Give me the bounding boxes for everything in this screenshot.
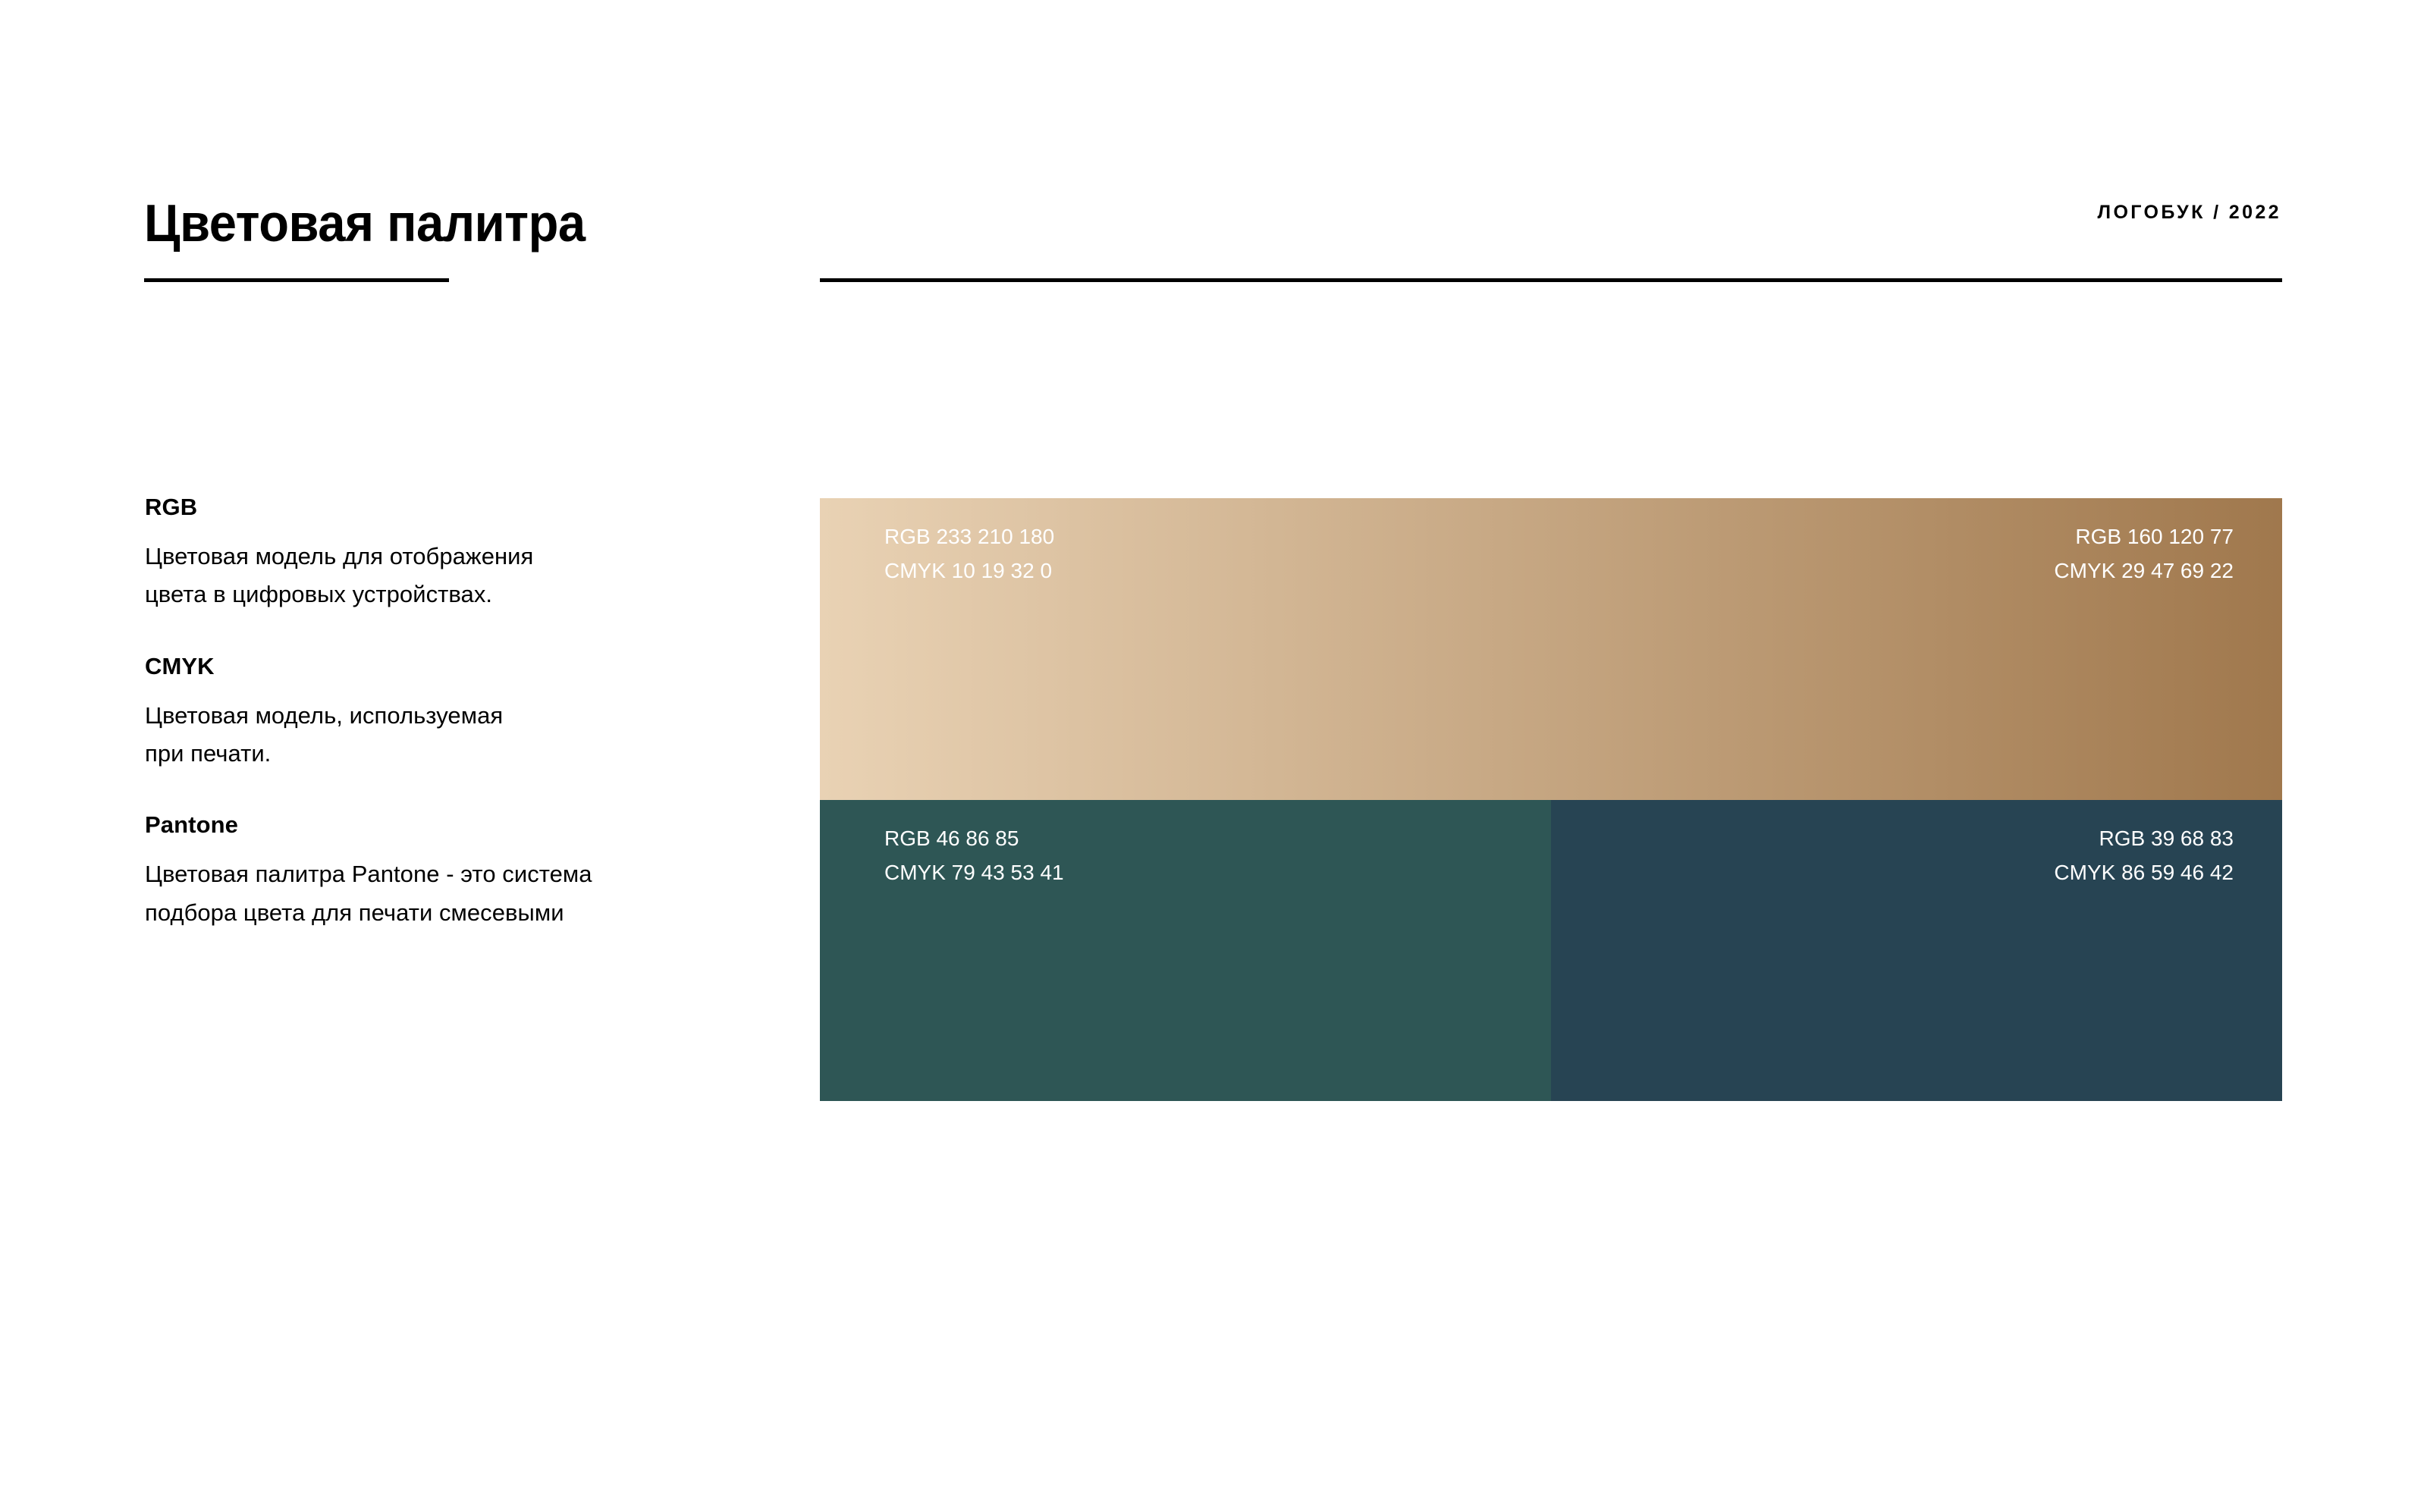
header-rule-left bbox=[144, 278, 449, 282]
page-title: Цветовая палитра bbox=[144, 196, 586, 249]
swatch-labels-sand-gradient: RGB 233 210 180 CMYK 10 19 32 0 bbox=[884, 519, 1054, 588]
swatch-rgb-value: RGB 46 86 85 bbox=[884, 821, 1064, 855]
swatch-labels-bronze: RGB 160 120 77 CMYK 29 47 69 22 bbox=[2054, 519, 2234, 588]
info-column: RGB Цветовая модель для отображения цвет… bbox=[145, 493, 767, 932]
color-swatch-sand-gradient: RGB 233 210 180 CMYK 10 19 32 0 RGB 160 … bbox=[820, 498, 2282, 800]
swatch-rgb-value: RGB 233 210 180 bbox=[884, 519, 1054, 554]
palette-grid: RGB 233 210 180 CMYK 10 19 32 0 RGB 160 … bbox=[820, 498, 2282, 1101]
swatch-cmyk-value: CMYK 86 59 46 42 bbox=[2054, 855, 2234, 889]
swatch-cmyk-value: CMYK 29 47 69 22 bbox=[2054, 554, 2234, 588]
info-heading-rgb: RGB bbox=[145, 493, 767, 521]
info-heading-cmyk: CMYK bbox=[145, 652, 767, 680]
header-rule-right bbox=[820, 278, 2282, 282]
info-body-pantone: Цветовая палитра Pantone - это система п… bbox=[145, 855, 767, 931]
swatch-labels-deep-blue: RGB 39 68 83 CMYK 86 59 46 42 bbox=[2054, 821, 2234, 890]
info-block-rgb: RGB Цветовая модель для отображения цвет… bbox=[145, 493, 767, 614]
color-swatch-deep-blue: RGB 39 68 83 CMYK 86 59 46 42 bbox=[1551, 800, 2282, 1101]
swatch-rgb-value: RGB 160 120 77 bbox=[2054, 519, 2234, 554]
info-block-pantone: Pantone Цветовая палитра Pantone - это с… bbox=[145, 811, 767, 932]
info-block-cmyk: CMYK Цветовая модель, используемая при п… bbox=[145, 652, 767, 773]
swatch-labels-deep-green: RGB 46 86 85 CMYK 79 43 53 41 bbox=[884, 821, 1064, 890]
info-body-rgb: Цветовая модель для отображения цвета в … bbox=[145, 538, 767, 613]
info-body-cmyk: Цветовая модель, используемая при печати… bbox=[145, 697, 767, 773]
info-heading-pantone: Pantone bbox=[145, 811, 767, 839]
color-swatch-deep-green: RGB 46 86 85 CMYK 79 43 53 41 bbox=[820, 800, 1551, 1101]
header-meta-label: ЛОГОБУК / 2022 bbox=[2098, 203, 2282, 222]
swatch-cmyk-value: CMYK 10 19 32 0 bbox=[884, 554, 1054, 588]
swatch-cmyk-value: CMYK 79 43 53 41 bbox=[884, 855, 1064, 889]
swatch-rgb-value: RGB 39 68 83 bbox=[2054, 821, 2234, 855]
